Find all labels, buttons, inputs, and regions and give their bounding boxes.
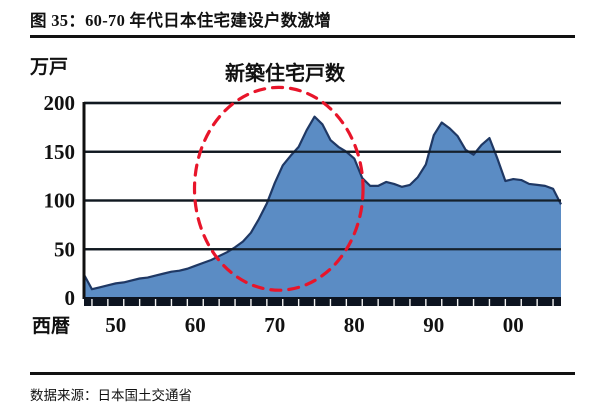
x-tick-label: 60 [185,313,206,337]
chart-container: 万戸 新築住宅戸数 050100150200 506070809000 西暦 [0,48,601,353]
housing-starts-area-chart: 万戸 新築住宅戸数 050100150200 506070809000 西暦 [0,48,601,353]
x-tick-label: 50 [105,313,126,337]
y-tick-label: 100 [44,189,76,213]
x-tick-label: 90 [423,313,444,337]
x-tick-label-layer: 506070809000 [105,313,524,337]
x-axis-caption: 西暦 [32,315,70,337]
source-note: 数据来源：日本国土交通省 [30,384,575,404]
x-tick-label: 00 [503,313,524,337]
series-title-label: 新築住宅戸数 [225,61,346,85]
y-tick-label-layer: 050100150200 [44,91,76,310]
y-tick-label: 150 [44,140,76,164]
figure-footer: 数据来源：日本国土交通省 [30,372,575,404]
footer-divider [30,372,575,375]
page-title: 图 35：60-70 年代日本住宅建设户数激增 [30,10,575,32]
y-tick-label: 0 [65,286,76,310]
x-tick-label: 80 [344,313,365,337]
figure-header: 图 35：60-70 年代日本住宅建设户数激增 [30,10,575,38]
y-tick-label: 200 [44,91,76,115]
y-tick-label: 50 [54,237,75,261]
title-divider [30,35,575,38]
x-tick-label: 70 [264,313,285,337]
y-axis-unit-label: 万戸 [29,56,68,78]
